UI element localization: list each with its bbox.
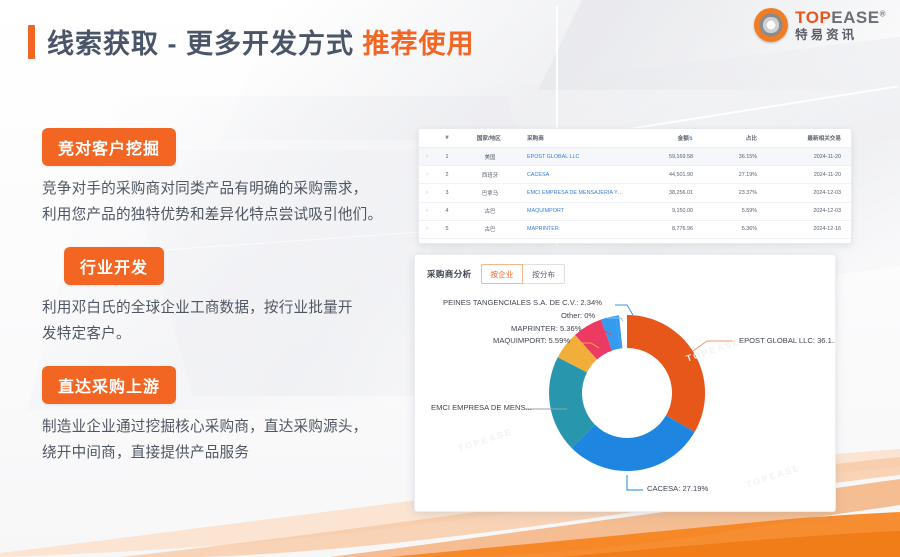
row-amount: 38,256.01: [623, 184, 703, 202]
row-buyer-link[interactable]: MAPRINTER: [521, 220, 623, 238]
row-amount: 9,150.00: [623, 202, 703, 220]
feature-description: 制造业企业通过挖掘核心采购商，直达采购源头， 绕开中间商，直接提供产品服务: [42, 415, 402, 467]
label-epost: EPOST GLOBAL LLC: 36.1...: [739, 336, 836, 345]
column-country-label: 国家/地区: [477, 136, 501, 142]
column-country[interactable]: 国家/地区↑: [459, 129, 521, 148]
column-percent: 占比: [703, 129, 769, 148]
row-percent: 5.59%: [703, 202, 769, 220]
title-accent-bar: [28, 25, 35, 59]
row-index: 4: [435, 202, 459, 220]
table-row[interactable]: › 1 美国 EPOST GLOBAL LLC 59,169.58 36.15%…: [419, 148, 851, 166]
leader-line-cacesa: [627, 475, 643, 490]
chart-title: 采购商分析: [427, 268, 472, 280]
label-cacesa: CACESA: 27.19%: [647, 484, 708, 493]
table-row[interactable]: › 2 西班牙 CACESA 44,501.90 27.19% 2024-11-…: [419, 166, 851, 184]
title-main: 线索获取 - 更多开发方式: [47, 29, 354, 59]
badge-direct-upstream: 直达采购上游: [42, 366, 176, 404]
tab-by-company[interactable]: 按企业: [481, 264, 524, 284]
feature-blocks: 竞对客户挖掘 竞争对手的采购商对同类产品有明确的采购需求， 利用您产品的独特优势…: [42, 128, 402, 485]
feature-description: 利用邓白氏的全球企业工商数据，按行业批量开 发特定客户。: [42, 296, 402, 348]
description-line: 利用您产品的独特优势和差异化特点尝试吸引他们。: [42, 203, 402, 229]
row-expand-icon[interactable]: ›: [419, 148, 435, 166]
table-row[interactable]: › 6 墨西哥 PEINES TANGENCIALES S.A. DE C.V.…: [419, 238, 851, 244]
row-date: 2024-12-16: [769, 220, 851, 238]
row-expand-icon[interactable]: ›: [419, 220, 435, 238]
column-amount[interactable]: 金额⇅: [623, 129, 703, 148]
row-date: 2024-11-20: [769, 148, 851, 166]
brand-logo: TOPEASE® 特易资讯: [754, 8, 886, 42]
row-percent: 2.34%: [703, 238, 769, 244]
logo-subtitle: 特易资讯: [795, 29, 886, 42]
feature-description: 竞争对手的采购商对同类产品有明确的采购需求， 利用您产品的独特优势和差异化特点尝…: [42, 177, 402, 229]
label-maprinter: MAPRINTER: 5.36%: [511, 324, 581, 333]
registered-icon: ®: [880, 9, 886, 18]
row-expand-icon[interactable]: ›: [419, 166, 435, 184]
table-row[interactable]: › 5 古巴 MAPRINTER 8,776.96 5.36% 2024-12-…: [419, 220, 851, 238]
row-date: 2024-11-20: [769, 166, 851, 184]
title-text: 线索获取 - 更多开发方式 推荐使用: [47, 22, 475, 61]
buyer-table: # 国家/地区↑ 采购商 金额⇅ 占比 最新相关交易 › 1 美国 EPOST …: [419, 129, 851, 244]
row-country: 古巴: [459, 220, 521, 238]
table-row[interactable]: › 3 巴拿马 EMCI EMPRESA DE MENSAJERIA Y CAM…: [419, 184, 851, 202]
row-country: 美国: [459, 148, 521, 166]
row-amount: 8,776.96: [623, 220, 703, 238]
row-buyer-link[interactable]: EPOST GLOBAL LLC: [521, 148, 623, 166]
row-buyer-link[interactable]: CACESA: [521, 166, 623, 184]
chart-view-tabs: 按企业 按分布: [481, 264, 566, 284]
row-index: 6: [435, 238, 459, 244]
table-header: # 国家/地区↑ 采购商 金额⇅ 占比 最新相关交易: [419, 129, 851, 148]
logo-name: TOPEASE®: [795, 9, 886, 26]
label-other: Other: 0%: [561, 311, 595, 320]
buyer-table-card: # 国家/地区↑ 采购商 金额⇅ 占比 最新相关交易 › 1 美国 EPOST …: [418, 128, 852, 244]
table-body: › 1 美国 EPOST GLOBAL LLC 59,169.58 36.15%…: [419, 148, 851, 245]
row-percent: 36.15%: [703, 148, 769, 166]
row-index: 2: [435, 166, 459, 184]
logo-wordmark: TOPEASE® 特易资讯: [795, 9, 886, 42]
row-buyer-link[interactable]: MAQUIMPORT: [521, 202, 623, 220]
row-expand-icon[interactable]: ›: [419, 184, 435, 202]
buyer-analysis-card: 采购商分析 按企业 按分布 TOPEASE TOPEASE TOPEASE: [414, 254, 836, 512]
label-peines: PEINES TANGENCIALES S.A. DE C.V.: 2.34%: [443, 298, 602, 307]
row-country: 古巴: [459, 202, 521, 220]
row-date: 2022-02-24: [769, 238, 851, 244]
description-line: 绕开中间商，直接提供产品服务: [42, 441, 402, 467]
badge-industry-development: 行业开发: [64, 247, 164, 285]
row-buyer-link[interactable]: EMCI EMPRESA DE MENSAJERIA Y CAMBIO I...: [521, 184, 623, 202]
logo-name-ease: EASE: [831, 8, 879, 27]
column-latest-trade: 最新相关交易: [769, 129, 851, 148]
row-amount: 3,833.87: [623, 238, 703, 244]
logo-circle-icon: [754, 8, 788, 42]
row-expand-icon[interactable]: ›: [419, 202, 435, 220]
chart-header: 采购商分析 按企业 按分布: [415, 255, 835, 284]
column-buyer: 采购商: [521, 129, 623, 148]
row-percent: 5.36%: [703, 220, 769, 238]
feature-block: 竞对客户挖掘 竞争对手的采购商对同类产品有明确的采购需求， 利用您产品的独特优势…: [42, 128, 402, 229]
row-index: 1: [435, 148, 459, 166]
donut-chart: TOPEASE TOPEASE TOPEASE: [415, 285, 835, 511]
table-row[interactable]: › 4 古巴 MAQUIMPORT 9,150.00 5.59% 2024-12…: [419, 202, 851, 220]
row-expand-icon[interactable]: ›: [419, 238, 435, 244]
row-index: 3: [435, 184, 459, 202]
description-line: 发特定客户。: [42, 322, 402, 348]
column-index: #: [435, 129, 459, 148]
tab-by-distribution[interactable]: 按分布: [523, 264, 565, 284]
feature-block: 直达采购上游 制造业企业通过挖掘核心采购商，直达采购源头， 绕开中间商，直接提供…: [42, 366, 402, 467]
row-index: 5: [435, 220, 459, 238]
row-country: 西班牙: [459, 166, 521, 184]
label-maquimport: MAQUIMPORT: 5.59%: [493, 336, 570, 345]
column-expand: [419, 129, 435, 148]
page-title: 线索获取 - 更多开发方式 推荐使用: [28, 22, 475, 61]
feature-block: 行业开发 利用邓白氏的全球企业工商数据，按行业批量开 发特定客户。: [42, 247, 402, 348]
row-buyer-link[interactable]: PEINES TANGENCIALES S.A. DE C.V.: [521, 238, 623, 244]
title-accent: 推荐使用: [363, 29, 475, 59]
column-amount-label: 金额: [678, 136, 689, 142]
row-amount: 59,169.58: [623, 148, 703, 166]
row-amount: 44,501.90: [623, 166, 703, 184]
description-line: 利用邓白氏的全球企业工商数据，按行业批量开: [42, 296, 402, 322]
row-country: 巴拿马: [459, 184, 521, 202]
row-date: 2024-12-03: [769, 202, 851, 220]
row-percent: 23.37%: [703, 184, 769, 202]
label-emci: EMCI EMPRESA DE MENS...: [431, 403, 532, 412]
slice-epost-global: [627, 315, 705, 432]
row-date: 2024-12-03: [769, 184, 851, 202]
sort-toggle-icon[interactable]: ⇅: [689, 136, 693, 142]
description-line: 竞争对手的采购商对同类产品有明确的采购需求，: [42, 177, 402, 203]
table-header-row: # 国家/地区↑ 采购商 金额⇅ 占比 最新相关交易: [419, 129, 851, 148]
row-country: 墨西哥: [459, 238, 521, 244]
badge-competitor-mining: 竞对客户挖掘: [42, 128, 176, 166]
sort-asc-icon[interactable]: ↑: [501, 136, 504, 142]
description-line: 制造业企业通过挖掘核心采购商，直达采购源头，: [42, 415, 402, 441]
leader-line-peines: [615, 305, 633, 315]
row-percent: 27.19%: [703, 166, 769, 184]
logo-name-top: TOP: [795, 8, 831, 27]
